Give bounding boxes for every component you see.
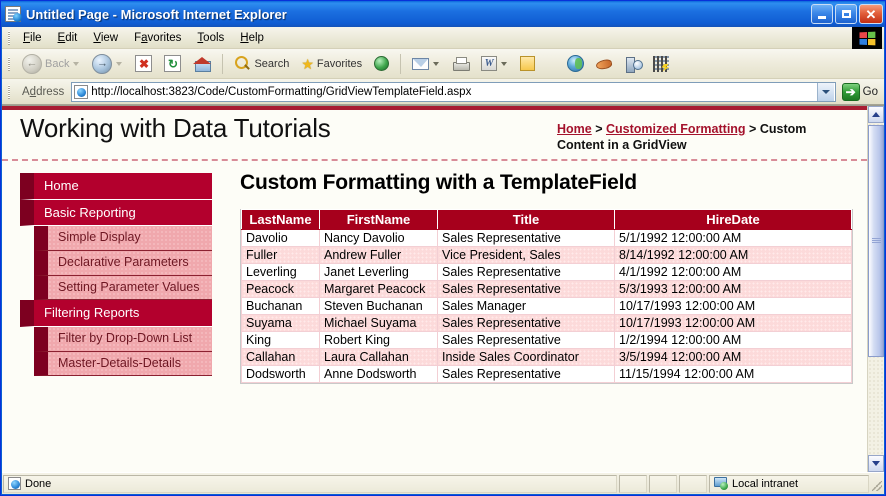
- cell-title: Sales Representative: [438, 315, 615, 332]
- refresh-icon: ↻: [164, 55, 181, 72]
- cell-hiredate: 4/1/1992 12:00:00 AM: [615, 264, 852, 281]
- menu-bar: File Edit View Favorites Tools Help: [2, 27, 884, 49]
- sidebar-item-basic-reporting[interactable]: Basic Reporting: [20, 200, 212, 227]
- cell-lastname: Suyama: [242, 315, 320, 332]
- main-toolbar: ← Back → ✖ ↻ Search ★: [2, 49, 884, 79]
- messenger-icon: [596, 56, 613, 71]
- breadcrumb: Home > Customized Formatting > Custom Co…: [557, 114, 857, 153]
- favorites-button[interactable]: ★ Favorites: [296, 54, 367, 74]
- forward-dropdown-icon[interactable]: [116, 62, 122, 66]
- menu-edit[interactable]: Edit: [50, 30, 86, 46]
- printer-icon: [452, 57, 469, 71]
- window-title: Untitled Page - Microsoft Internet Explo…: [26, 7, 287, 22]
- breadcrumb-separator-1: >: [592, 122, 606, 136]
- sidebar-item-filtering-reports[interactable]: Filtering Reports: [20, 300, 212, 327]
- cell-title: Sales Representative: [438, 332, 615, 349]
- gridview-table: LastName FirstName Title HireDate: [241, 209, 852, 383]
- minimize-button[interactable]: [811, 4, 833, 24]
- media-button[interactable]: [369, 53, 394, 74]
- breadcrumb-link-section[interactable]: Customized Formatting: [606, 122, 746, 136]
- table-row: King Robert King Sales Representative 1/…: [242, 332, 852, 349]
- title-bar-left: Untitled Page - Microsoft Internet Explo…: [5, 6, 811, 22]
- breadcrumb-separator-2: >: [746, 122, 760, 136]
- messenger-button[interactable]: [591, 53, 618, 74]
- globe-icon: [374, 56, 389, 71]
- flag-glyph: [859, 31, 875, 45]
- maximize-icon: [842, 10, 851, 18]
- scroll-up-button[interactable]: [868, 106, 884, 123]
- browser-window: Untitled Page - Microsoft Internet Explo…: [0, 0, 886, 496]
- word-icon: W: [481, 56, 497, 71]
- back-arrow-icon: ←: [22, 54, 42, 74]
- research-icon: [625, 56, 641, 72]
- page-favicon-icon: [74, 85, 88, 99]
- page-viewport: Working with Data Tutorials Home > Custo…: [2, 105, 884, 472]
- site-title: Working with Data Tutorials: [20, 114, 331, 144]
- sidebar-item-master-details-details[interactable]: Master-Details-Details: [34, 352, 212, 377]
- cell-title: Sales Representative: [438, 366, 615, 383]
- status-message-pane: Done: [3, 475, 617, 493]
- world-button[interactable]: [562, 52, 589, 75]
- address-dropdown-button[interactable]: [817, 83, 834, 101]
- forward-button[interactable]: →: [87, 51, 128, 77]
- ie-document-icon: [5, 6, 21, 22]
- home-button[interactable]: [188, 53, 216, 75]
- search-button[interactable]: Search: [229, 52, 294, 75]
- sidebar-item-declarative-parameters[interactable]: Declarative Parameters: [34, 251, 212, 276]
- resize-grip[interactable]: [870, 475, 884, 493]
- sidebar-item-filter-by-drop-down-list[interactable]: Filter by Drop-Down List: [34, 327, 212, 352]
- cell-hiredate: 5/1/1992 12:00:00 AM: [615, 230, 852, 247]
- cell-hiredate: 1/2/1994 12:00:00 AM: [615, 332, 852, 349]
- cell-firstname: Janet Leverling: [320, 264, 438, 281]
- mail-icon: [412, 58, 429, 70]
- toolbar-separator-1: [222, 54, 223, 74]
- cell-title: Sales Representative: [438, 264, 615, 281]
- cell-firstname: Michael Suyama: [320, 315, 438, 332]
- cell-title: Vice President, Sales: [438, 247, 615, 264]
- star-icon: ★: [301, 57, 314, 71]
- close-button[interactable]: ✕: [859, 4, 883, 24]
- go-label: Go: [863, 86, 878, 98]
- gridview-wrapper: LastName FirstName Title HireDate: [240, 209, 853, 384]
- cell-title: Inside Sales Coordinator: [438, 349, 615, 366]
- window-controls: ✕: [811, 4, 883, 24]
- cell-firstname: Robert King: [320, 332, 438, 349]
- table-row: Dodsworth Anne Dodsworth Sales Represent…: [242, 366, 852, 383]
- mail-dropdown-icon[interactable]: [433, 62, 439, 66]
- menu-tools[interactable]: Tools: [189, 30, 232, 46]
- status-text: Done: [25, 478, 51, 490]
- scroll-down-button[interactable]: [868, 455, 884, 472]
- search-icon: [234, 55, 251, 72]
- highlighter-icon: [653, 56, 669, 72]
- cell-title: Sales Manager: [438, 298, 615, 315]
- address-value: http://localhost:3823/Code/CustomFormatt…: [91, 86, 816, 98]
- table-header-row: LastName FirstName Title HireDate: [242, 210, 852, 230]
- page-columns: Home Basic Reporting Simple Display Decl…: [2, 161, 867, 384]
- cell-lastname: Fuller: [242, 247, 320, 264]
- cell-firstname: Nancy Davolio: [320, 230, 438, 247]
- breadcrumb-link-home[interactable]: Home: [557, 122, 592, 136]
- main-content: Custom Formatting with a TemplateField L…: [212, 161, 867, 384]
- security-zone-pane[interactable]: Local intranet: [709, 475, 869, 493]
- stop-icon: ✖: [135, 55, 152, 72]
- column-header-lastname[interactable]: LastName: [242, 210, 320, 230]
- note-icon: [520, 56, 535, 71]
- browser-chrome: File Edit View Favorites Tools Help ← Ba…: [2, 27, 884, 494]
- site-header: Working with Data Tutorials Home > Custo…: [2, 110, 867, 161]
- web-page: Working with Data Tutorials Home > Custo…: [2, 106, 867, 472]
- table-row: Leverling Janet Leverling Sales Represen…: [242, 264, 852, 281]
- edit-dropdown-icon[interactable]: [501, 62, 507, 66]
- cell-hiredate: 10/17/1993 12:00:00 AM: [615, 298, 852, 315]
- menu-help[interactable]: Help: [232, 30, 272, 46]
- toolbar-separator-3: [546, 54, 556, 74]
- favorites-label: Favorites: [317, 58, 362, 70]
- forward-arrow-icon: →: [92, 54, 112, 74]
- column-header-firstname[interactable]: FirstName: [320, 210, 438, 230]
- stop-button[interactable]: ✖: [130, 52, 157, 75]
- toolbar-grip[interactable]: [6, 56, 12, 72]
- table-row: Callahan Laura Callahan Inside Sales Coo…: [242, 349, 852, 366]
- sidebar-nav: Home Basic Reporting Simple Display Decl…: [2, 161, 212, 376]
- title-bar: Untitled Page - Microsoft Internet Explo…: [1, 1, 885, 27]
- cell-hiredate: 10/17/1993 12:00:00 AM: [615, 315, 852, 332]
- network-zone-icon: [714, 477, 728, 490]
- scrollbar-track[interactable]: [868, 123, 884, 455]
- cell-lastname: Callahan: [242, 349, 320, 366]
- sidebar-item-home[interactable]: Home: [20, 173, 212, 200]
- print-button[interactable]: [447, 54, 474, 74]
- cell-lastname: Peacock: [242, 281, 320, 298]
- menu-grip[interactable]: [6, 30, 12, 46]
- address-label: Address: [19, 86, 67, 98]
- notes-button[interactable]: [515, 53, 540, 74]
- status-pane-2: [619, 475, 647, 493]
- column-header-title[interactable]: Title: [438, 210, 615, 230]
- table-row: Buchanan Steven Buchanan Sales Manager 1…: [242, 298, 852, 315]
- cell-lastname: Leverling: [242, 264, 320, 281]
- cell-hiredate: 11/15/1994 12:00:00 AM: [615, 366, 852, 383]
- cell-lastname: Dodsworth: [242, 366, 320, 383]
- cell-title: Sales Representative: [438, 281, 615, 298]
- menu-favorites[interactable]: Favorites: [126, 30, 189, 46]
- status-bar: Done Local intranet: [2, 472, 884, 494]
- cell-lastname: Davolio: [242, 230, 320, 247]
- close-icon: ✕: [866, 8, 877, 21]
- back-dropdown-icon[interactable]: [73, 62, 79, 66]
- go-button[interactable]: ➔ Go: [840, 83, 884, 101]
- gridview-head: LastName FirstName Title HireDate: [242, 210, 852, 230]
- menu-file[interactable]: File: [15, 30, 50, 46]
- column-header-hiredate[interactable]: HireDate: [615, 210, 852, 230]
- address-grip[interactable]: [6, 84, 12, 100]
- back-button[interactable]: ← Back: [17, 51, 85, 77]
- sidebar-item-setting-parameter-values[interactable]: Setting Parameter Values: [34, 276, 212, 301]
- cell-firstname: Andrew Fuller: [320, 247, 438, 264]
- highlight-button[interactable]: [648, 53, 674, 75]
- minimize-icon: [818, 16, 826, 19]
- edit-word-button[interactable]: W: [476, 53, 513, 74]
- page-content: Working with Data Tutorials Home > Custo…: [2, 110, 867, 472]
- sidebar-item-simple-display[interactable]: Simple Display: [34, 226, 212, 251]
- cell-firstname: Laura Callahan: [320, 349, 438, 366]
- table-row: Suyama Michael Suyama Sales Representati…: [242, 315, 852, 332]
- cell-firstname: Margaret Peacock: [320, 281, 438, 298]
- cell-hiredate: 5/3/1993 12:00:00 AM: [615, 281, 852, 298]
- gridview-body: Davolio Nancy Davolio Sales Representati…: [242, 230, 852, 383]
- home-icon: [193, 56, 211, 72]
- status-pane-4: [679, 475, 707, 493]
- cell-hiredate: 8/14/1992 12:00:00 AM: [615, 247, 852, 264]
- refresh-button[interactable]: ↻: [159, 52, 186, 75]
- windows-logo-icon: [852, 27, 882, 49]
- page-scrollbar[interactable]: [867, 106, 884, 472]
- toolbar-separator-2: [400, 54, 401, 74]
- research-button[interactable]: [620, 53, 646, 75]
- cell-lastname: Buchanan: [242, 298, 320, 315]
- cell-hiredate: 3/5/1994 12:00:00 AM: [615, 349, 852, 366]
- search-label: Search: [254, 58, 289, 70]
- go-arrow-icon: ➔: [842, 83, 860, 101]
- cell-firstname: Anne Dodsworth: [320, 366, 438, 383]
- menu-view[interactable]: View: [85, 30, 126, 46]
- maximize-button[interactable]: [835, 4, 857, 24]
- table-row: Peacock Margaret Peacock Sales Represent…: [242, 281, 852, 298]
- status-page-icon: [8, 477, 21, 490]
- cell-firstname: Steven Buchanan: [320, 298, 438, 315]
- table-row: Fuller Andrew Fuller Vice President, Sal…: [242, 247, 852, 264]
- back-label: Back: [45, 58, 69, 70]
- address-input[interactable]: http://localhost:3823/Code/CustomFormatt…: [71, 82, 835, 102]
- table-row: Davolio Nancy Davolio Sales Representati…: [242, 230, 852, 247]
- cell-lastname: King: [242, 332, 320, 349]
- page-title: Custom Formatting with a TemplateField: [240, 171, 853, 195]
- cell-title: Sales Representative: [438, 230, 615, 247]
- world-icon: [567, 55, 584, 72]
- address-bar: Address http://localhost:3823/Code/Custo…: [2, 79, 884, 105]
- mail-button[interactable]: [407, 55, 445, 73]
- scrollbar-thumb[interactable]: [868, 125, 884, 357]
- status-pane-3: [649, 475, 677, 493]
- security-zone-label: Local intranet: [732, 478, 798, 490]
